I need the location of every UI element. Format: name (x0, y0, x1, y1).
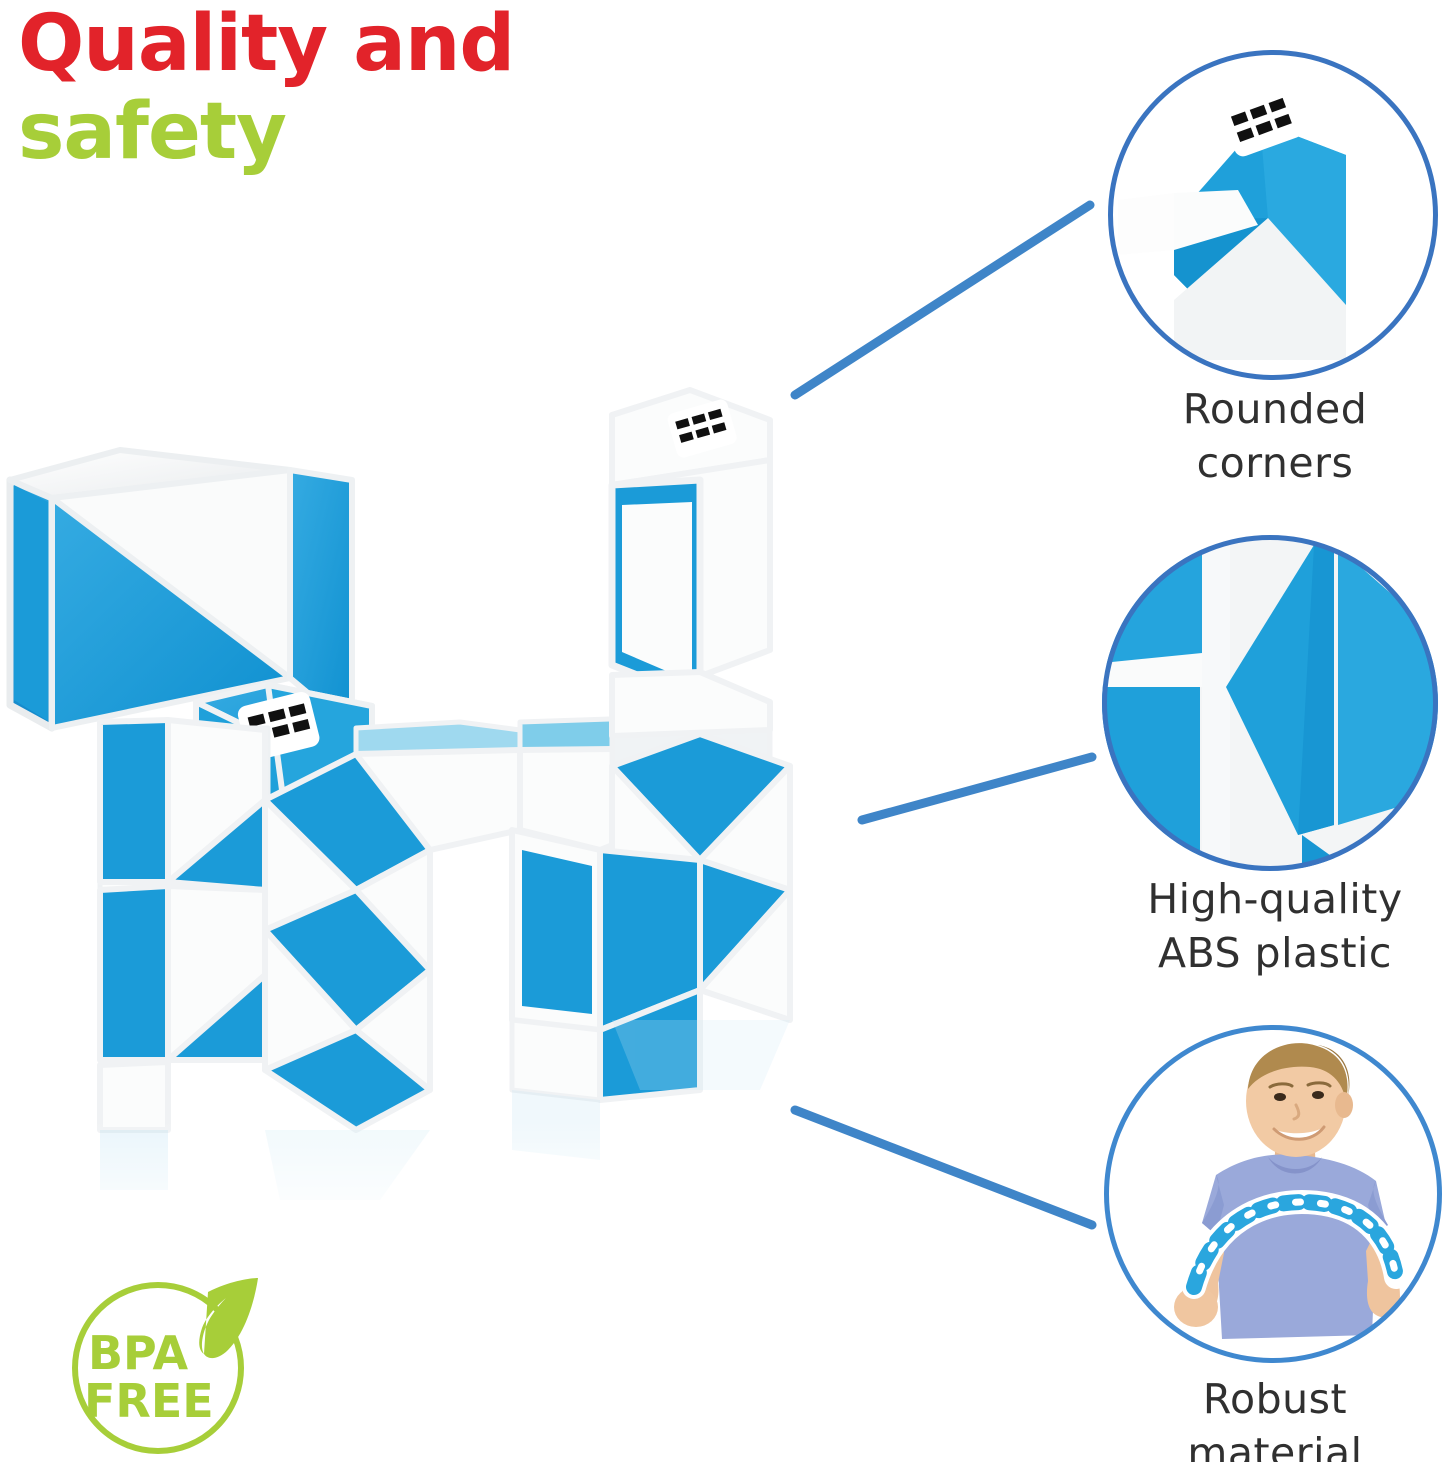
connector-line-3 (795, 1110, 1092, 1225)
boy-with-puzzle-photo (1104, 1025, 1442, 1363)
callout-robust-material (1104, 1025, 1442, 1363)
rounded-corners-closeup (1108, 50, 1438, 380)
callout-abs-plastic (1102, 535, 1438, 871)
abs-plastic-closeup (1102, 535, 1438, 871)
page-title: Quality and safety (18, 0, 638, 176)
product-hero-image (0, 330, 820, 1230)
product-infographic-page: Quality and safety (0, 0, 1445, 1462)
bpa-free-badge: BPA FREE (58, 1272, 273, 1460)
bpa-free-text: BPA FREE (84, 1326, 214, 1428)
callout-label-rounded-corners: Rounded corners (1080, 382, 1445, 490)
headline-line-1: Quality and (18, 0, 638, 88)
callout-label-abs-plastic: High-quality ABS plastic (1080, 872, 1445, 980)
connector-line-1 (795, 205, 1090, 395)
callout-rounded-corners (1108, 50, 1438, 380)
connector-line-2 (862, 757, 1092, 820)
badge-line-2: FREE (84, 1374, 214, 1428)
puzzle-segments (10, 390, 790, 1130)
snake-puzzle-illustration (0, 330, 820, 1230)
callout-label-robust-material: Robust material (1080, 1372, 1445, 1462)
bpa-free-badge-graphic: BPA FREE (58, 1272, 273, 1460)
badge-line-1: BPA (88, 1326, 189, 1380)
headline-line-2: safety (18, 88, 638, 176)
